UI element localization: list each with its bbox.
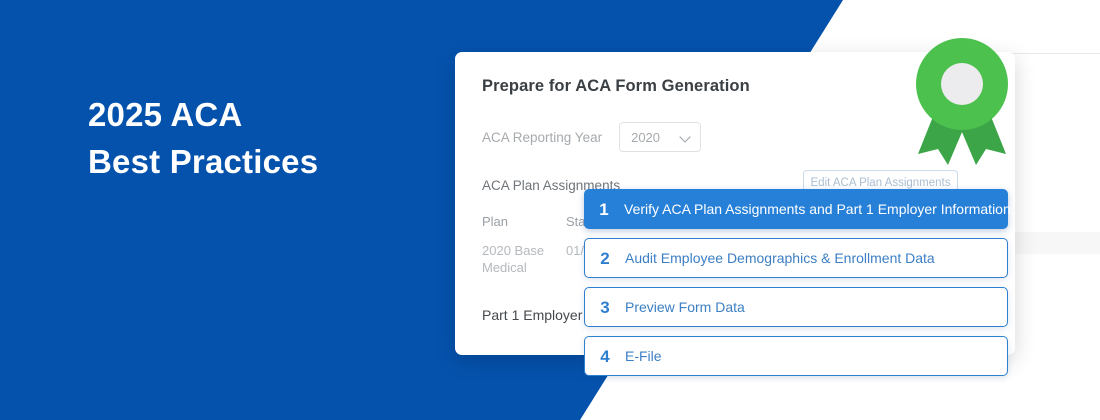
promo-banner: 2025 ACA Best Practices Prepare for ACA … xyxy=(0,0,1100,420)
step-number: 4 xyxy=(585,348,625,365)
step-label: Verify ACA Plan Assignments and Part 1 E… xyxy=(624,201,1011,217)
step-item-2[interactable]: 2 Audit Employee Demographics & Enrollme… xyxy=(584,238,1008,278)
reporting-year-row: ACA Reporting Year 2020 xyxy=(482,122,701,152)
step-item-4[interactable]: 4 E-File xyxy=(584,336,1008,376)
step-label: Audit Employee Demographics & Enrollment… xyxy=(625,250,935,266)
card-title: Prepare for ACA Form Generation xyxy=(482,77,750,96)
chevron-down-icon xyxy=(680,132,691,143)
reporting-year-select[interactable]: 2020 xyxy=(619,122,701,152)
award-ribbon-icon xyxy=(912,32,1012,167)
step-item-1[interactable]: 1 Verify ACA Plan Assignments and Part 1… xyxy=(584,189,1008,229)
reporting-year-label: ACA Reporting Year xyxy=(482,130,602,145)
page-title: 2025 ACA Best Practices xyxy=(88,92,318,186)
column-header-plan: Plan xyxy=(482,214,566,229)
steps-list: 1 Verify ACA Plan Assignments and Part 1… xyxy=(584,189,1008,385)
step-number: 3 xyxy=(585,299,625,316)
headline-line-2: Best Practices xyxy=(88,139,318,186)
step-number: 1 xyxy=(584,201,624,218)
headline-line-1: 2025 ACA xyxy=(88,92,318,139)
step-label: Preview Form Data xyxy=(625,299,745,315)
reporting-year-value: 2020 xyxy=(631,130,660,145)
cell-plan-name: 2020 Base Medical xyxy=(482,242,566,276)
step-number: 2 xyxy=(585,250,625,267)
step-item-3[interactable]: 3 Preview Form Data xyxy=(584,287,1008,327)
step-label: E-File xyxy=(625,348,662,364)
